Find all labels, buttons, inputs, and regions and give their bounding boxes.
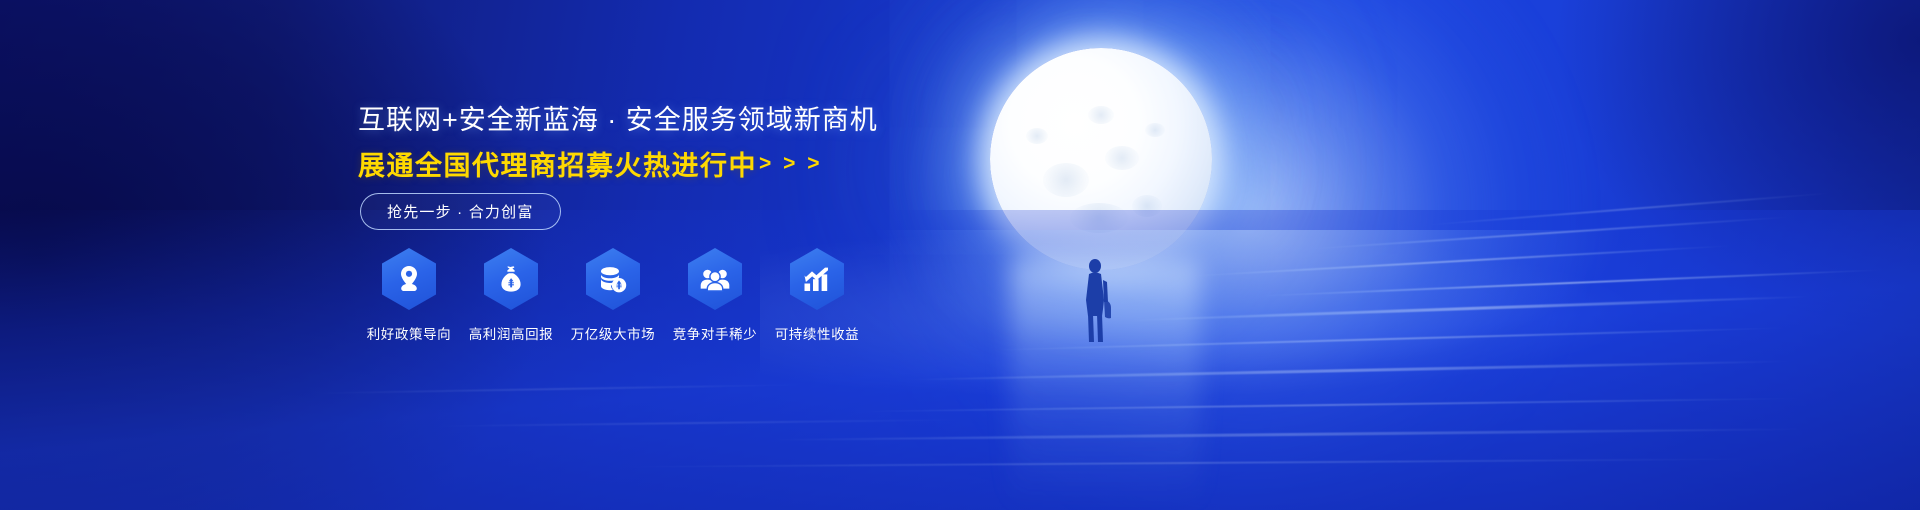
cta-pill-button[interactable]: 抢先一步 · 合力创富 — [360, 193, 561, 230]
feature-item[interactable]: 高利润高回报 — [460, 248, 562, 343]
location-pin-person-icon — [382, 248, 436, 310]
feature-item[interactable]: 万亿级大市场 — [562, 248, 664, 343]
people-group-icon — [688, 248, 742, 310]
feature-list: 利好政策导向 高利润高回报 — [358, 248, 868, 343]
feature-item[interactable]: 竞争对手稀少 — [664, 248, 766, 343]
feature-label: 万亿级大市场 — [571, 323, 656, 343]
feature-label: 利好政策导向 — [367, 323, 452, 343]
walking-person-silhouette — [1074, 258, 1118, 344]
money-bag-yuan-icon — [484, 248, 538, 310]
chevron-right-arrows-icon: > > > — [759, 152, 822, 176]
feature-label: 可持续性收益 — [775, 323, 860, 343]
coin-stack-yuan-icon — [586, 248, 640, 310]
banner-headline: 互联网+安全新蓝海 · 安全服务领域新商机 — [358, 98, 878, 137]
feature-item[interactable]: 利好政策导向 — [358, 248, 460, 343]
subheadline-text: 展通全国代理商招募火热进行中 — [358, 144, 757, 183]
growth-bar-chart-icon — [790, 248, 844, 310]
feature-label: 高利润高回报 — [469, 323, 554, 343]
banner-subheadline: 展通全国代理商招募火热进行中 > > > — [358, 144, 822, 183]
promo-banner: 互联网+安全新蓝海 · 安全服务领域新商机 展通全国代理商招募火热进行中 > >… — [0, 0, 1920, 510]
banner-content: 互联网+安全新蓝海 · 安全服务领域新商机 展通全国代理商招募火热进行中 > >… — [358, 0, 998, 510]
feature-label: 竞争对手稀少 — [673, 323, 758, 343]
feature-item[interactable]: 可持续性收益 — [766, 248, 868, 343]
